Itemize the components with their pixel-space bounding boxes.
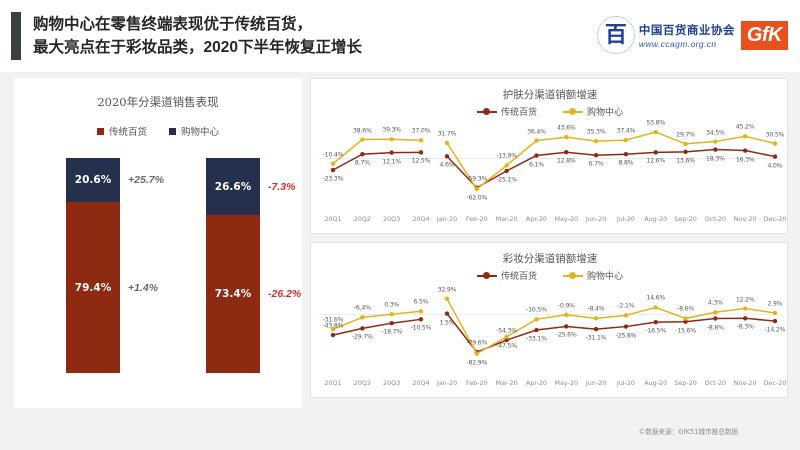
data-label: 39.3% (382, 127, 401, 134)
ccagm-name: 中国百货商业协会 (639, 22, 735, 38)
data-label: 1.5% (440, 319, 455, 326)
data-label: -18.7% (381, 329, 402, 336)
makeup-chart-title: 彩妆分渠道销额增速 (311, 251, 789, 266)
growth-label-department-store: +1.4% (128, 282, 158, 294)
x-axis-tick-label: Jun-20 (586, 379, 606, 387)
logo-group: 百 中国百货商业协会 www.ccagm.org.cn GfK (597, 16, 788, 54)
legend-swatch-shopping-mall (169, 128, 176, 135)
data-label: 0.3% (384, 302, 399, 309)
source-footnote: ©数据来源：GfK51城市推总数据 (639, 426, 738, 436)
page-title: 购物中心在零售终端表现优于传统百货， 最大亮点在于彩妆品类，2020下半年恢复正… (33, 13, 553, 59)
data-label: 18.3% (706, 155, 725, 162)
x-axis-tick-label: 20Q1 (324, 215, 341, 223)
x-axis-tick-label: Aug-20 (644, 379, 667, 387)
data-label: 29.7% (676, 131, 695, 138)
x-axis-tick-label: 20Q3 (383, 379, 400, 387)
skincare-chart-title: 护肤分渠道销额增速 (311, 87, 789, 102)
data-label: -47.5% (496, 342, 517, 349)
bar-segment-label: 79.4% (75, 282, 111, 294)
data-label: 37.0% (412, 128, 431, 135)
data-label: 14.6% (646, 295, 665, 302)
data-label: -2.1% (617, 303, 634, 310)
data-label: -0.9% (558, 302, 575, 309)
data-label: 16.3% (736, 156, 755, 163)
x-axis-tick-label: Oct-20 (705, 215, 727, 223)
x-axis-tick-label: Mar-20 (496, 379, 518, 387)
growth-label-shopping-mall: -7.3% (268, 181, 295, 193)
x-axis-tick-label: Jan-20 (437, 379, 457, 387)
data-label: -29.7% (352, 334, 373, 341)
slide-header: 购物中心在零售终端表现优于传统百货， 最大亮点在于彩妆品类，2020下半年恢复正… (0, 0, 800, 72)
data-label: -79.6% (466, 340, 487, 347)
x-axis-tick-label: Jul-20 (617, 215, 635, 223)
x-axis-tick-label: Dec-20 (764, 379, 787, 387)
data-label: 12.2% (736, 296, 755, 303)
data-label: -10.5% (526, 307, 547, 314)
data-label: 12.1% (382, 158, 401, 165)
x-axis-tick-label: Sep-20 (674, 379, 696, 387)
data-label: -13.9% (496, 153, 517, 160)
data-label: 32.9% (438, 286, 457, 293)
skincare-plot-area: -23.3%8.7%12.1%12.5%-10.4%38.6%39.3%37.0… (311, 109, 789, 207)
growth-label-department-store: -26.2% (268, 288, 301, 300)
gfk-logo: GfK (741, 21, 788, 50)
data-label: -8.8% (707, 324, 724, 331)
bar-segment-label: 73.4% (215, 288, 251, 300)
data-label: 6.5% (414, 299, 429, 306)
data-label: 37.4% (617, 128, 636, 135)
x-axis-tick-label: Jan-20 (437, 215, 457, 223)
legend-item-shopping-mall: 购物中心 (169, 124, 219, 138)
data-label: 36.4% (527, 128, 546, 135)
data-label: -31.6% (323, 317, 344, 324)
ccagm-url: www.ccagm.org.cn (639, 39, 735, 49)
bar-segment-label: 20.6% (75, 174, 111, 186)
data-label: 34.5% (706, 129, 725, 136)
slide-canvas: 购物中心在零售终端表现优于传统百货， 最大亮点在于彩妆品类，2020下半年恢复正… (0, 0, 800, 450)
data-label: 12.5% (412, 158, 431, 165)
skincare-growth-chart-panel: 护肤分渠道销额增速 传统百货 购物中心 -23.3%8.7%12.1%12.5%… (310, 78, 788, 234)
data-label: 4.6% (440, 162, 455, 169)
x-axis-tick-label: Aug-20 (644, 215, 667, 223)
x-axis-tick-label: Mar-20 (496, 215, 518, 223)
page-title-line-1: 购物中心在零售终端表现优于传统百货， (33, 13, 553, 36)
stacked-bar[interactable]: 20.6%79.4% (66, 158, 120, 373)
bar-group: 26.6%73.4%-7.3%-26.2% (206, 158, 298, 373)
page-title-line-2: 最大亮点在于彩妆品类，2020下半年恢复正增长 (33, 36, 553, 59)
legend-swatch-department-store (97, 128, 104, 135)
data-label: 8.7% (355, 160, 370, 167)
data-label: 4.3% (708, 300, 723, 307)
data-label: -25.6% (556, 332, 577, 339)
data-label: -54.3% (496, 328, 517, 335)
x-axis-tick-label: Nov-20 (734, 379, 757, 387)
makeup-x-axis: 20Q120Q220Q320Q4Jan-20Feb-20Mar-20Apr-20… (311, 379, 789, 393)
data-label: 12.8% (557, 158, 576, 165)
ccagm-logo: 百 中国百货商业协会 www.ccagm.org.cn (597, 16, 735, 54)
x-axis-tick-label: Apr-20 (526, 379, 547, 387)
bar-segment-label: 26.6% (215, 181, 251, 193)
bar-segment-department-store[interactable]: 79.4% (66, 202, 120, 373)
x-axis-tick-label: 20Q4 (412, 215, 429, 223)
makeup-growth-chart-panel: 彩妆分渠道销额增速 传统百货 购物中心 -43.8%-29.7%-18.7%-1… (310, 242, 788, 398)
x-axis-tick-label: Feb-20 (466, 379, 488, 387)
stacked-bar-chart-title: 2020年分渠道销售表现 (14, 94, 302, 110)
data-label: 8.8% (618, 160, 633, 167)
x-axis-tick-label: May-20 (554, 379, 578, 387)
data-label: 30.5% (766, 131, 785, 138)
data-label: -62.0% (466, 195, 487, 202)
data-label: -59.3% (466, 175, 487, 182)
data-label: -33.1% (526, 336, 547, 343)
bar-segment-shopping-mall[interactable]: 26.6% (206, 158, 260, 215)
x-axis-tick-label: Sep-20 (674, 215, 696, 223)
x-axis-tick-label: 20Q1 (324, 379, 341, 387)
data-label: 43.6% (557, 125, 576, 132)
data-label: -10.4% (323, 151, 344, 158)
x-axis-tick-label: 20Q2 (354, 215, 371, 223)
data-label: 45.2% (736, 124, 755, 131)
x-axis-tick-label: Apr-20 (526, 215, 547, 223)
makeup-plot-area: -43.8%-29.7%-18.7%-10.5%-31.6%-6.4%0.3%6… (311, 273, 789, 371)
stacked-bar-legend: 传统百货 购物中心 (14, 124, 302, 138)
skincare-x-axis: 20Q120Q220Q320Q4Jan-20Feb-20Mar-20Apr-20… (311, 215, 789, 229)
legend-label-department-store: 传统百货 (109, 124, 147, 138)
data-label: -6.4% (354, 305, 371, 312)
bars-plot-area: 20.6%79.4%+25.7%+1.4%护肤26.6%73.4%-7.3%-2… (14, 158, 302, 373)
data-label: 13.6% (676, 157, 695, 164)
x-axis-tick-label: Dec-20 (764, 215, 787, 223)
legend-label-shopping-mall: 购物中心 (181, 124, 219, 138)
ccagm-glyph: 百 (605, 22, 627, 48)
x-axis-tick-label: Jul-20 (617, 379, 635, 387)
data-label: 31.7% (438, 130, 457, 137)
x-axis-tick-label: 20Q2 (354, 379, 371, 387)
data-label: -31.1% (586, 335, 607, 342)
data-label: 38.6% (353, 127, 372, 134)
bar-segment-department-store[interactable]: 73.4% (206, 215, 260, 373)
title-accent-bar (11, 12, 21, 60)
stacked-bar[interactable]: 26.6%73.4% (206, 158, 260, 373)
x-axis-tick-label: Feb-20 (466, 215, 488, 223)
bar-group: 20.6%79.4%+25.7%+1.4% (66, 158, 158, 373)
stacked-bar-chart-panel: 2020年分渠道销售表现 传统百货 购物中心 20.6%79.4%+25.7%+… (14, 78, 302, 408)
growth-label-shopping-mall: +25.7% (128, 174, 164, 186)
data-label: -82.9% (466, 359, 487, 366)
data-label: -8.3% (737, 324, 754, 331)
x-axis-tick-label: May-20 (554, 215, 578, 223)
data-label: -14.2% (765, 327, 786, 334)
x-axis-tick-label: 20Q4 (412, 379, 429, 387)
x-axis-tick-label: 20Q3 (383, 215, 400, 223)
data-label: -8.6% (677, 306, 694, 313)
data-label: 35.3% (587, 129, 606, 136)
data-label: 6.7% (589, 161, 604, 168)
data-label: 53.8% (646, 120, 665, 127)
data-label: -23.3% (323, 176, 344, 183)
data-label: -25.8% (616, 332, 637, 339)
data-label: -16.5% (645, 328, 666, 335)
x-axis-tick-label: Nov-20 (734, 215, 757, 223)
data-label: 2.9% (768, 300, 783, 307)
bar-segment-shopping-mall[interactable]: 20.6% (66, 158, 120, 202)
ccagm-emblem-icon: 百 (597, 16, 635, 54)
data-label: -10.5% (411, 325, 432, 332)
data-label: -25.1% (496, 176, 517, 183)
x-axis-tick-label: Jun-20 (586, 215, 606, 223)
data-label: 12.6% (646, 158, 665, 165)
legend-item-department-store: 传统百货 (97, 124, 147, 138)
data-label: 6.1% (529, 161, 544, 168)
data-label: -8.4% (588, 306, 605, 313)
data-label: 4.0% (768, 162, 783, 169)
x-axis-tick-label: Oct-20 (705, 379, 727, 387)
data-label: -15.6% (675, 327, 696, 334)
